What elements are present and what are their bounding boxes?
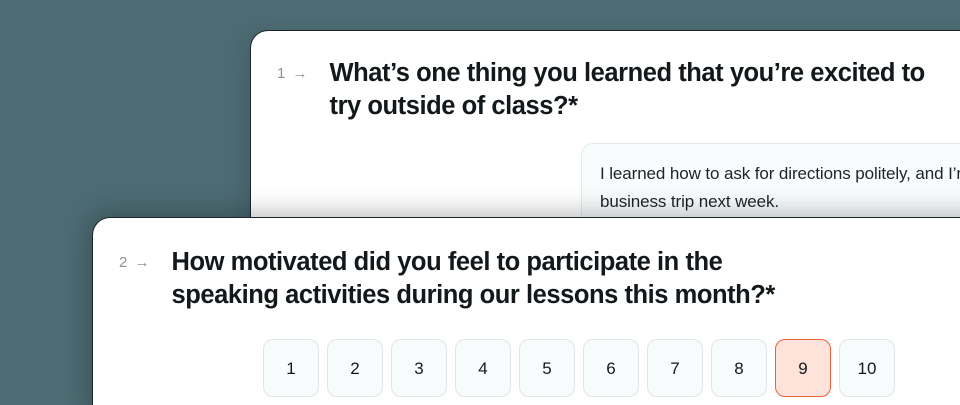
question-header-2: 2 → How motivated did you feel to partic…	[93, 218, 960, 311]
scale-option-9[interactable]: 9	[775, 339, 831, 397]
scale-option-10[interactable]: 10	[839, 339, 895, 397]
screenshot-stage: 1 → What’s one thing you learned that yo…	[0, 0, 960, 405]
question-number-2: 2	[119, 255, 128, 270]
answer-text-value-1: I learned how to ask for directions poli…	[600, 160, 960, 215]
question-card-1: 1 → What’s one thing you learned that yo…	[250, 30, 960, 220]
question-index-2: 2 →	[119, 246, 150, 270]
question-header-1: 1 → What’s one thing you learned that yo…	[251, 31, 960, 122]
scale-option-3[interactable]: 3	[391, 339, 447, 397]
arrow-right-icon: →	[293, 66, 308, 81]
scale-option-1[interactable]: 1	[263, 339, 319, 397]
scale-option-2[interactable]: 2	[327, 339, 383, 397]
question-card-2: 2 → How motivated did you feel to partic…	[92, 217, 960, 405]
opinion-scale: 12345678910	[263, 339, 895, 397]
arrow-right-icon: →	[135, 255, 150, 270]
question-title-1: What’s one thing you learned that you’re…	[330, 57, 950, 122]
scale-option-8[interactable]: 8	[711, 339, 767, 397]
scale-option-6[interactable]: 6	[583, 339, 639, 397]
answer-textarea-1[interactable]: I learned how to ask for directions poli…	[581, 143, 960, 220]
question-index-1: 1 →	[277, 57, 308, 81]
question-title-2: How motivated did you feel to participat…	[172, 246, 832, 311]
scale-option-5[interactable]: 5	[519, 339, 575, 397]
question-number-1: 1	[277, 66, 286, 81]
scale-option-4[interactable]: 4	[455, 339, 511, 397]
scale-option-7[interactable]: 7	[647, 339, 703, 397]
